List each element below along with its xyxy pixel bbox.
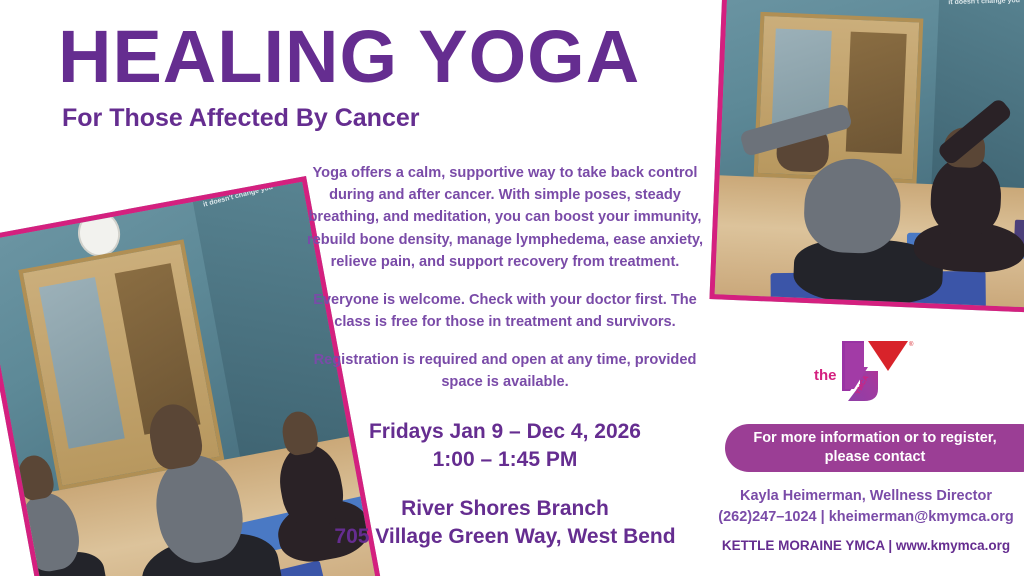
yoga-class-photo-top-right: If it doesn't challenge you, it doesn't … [709, 0, 1024, 313]
spacer [300, 473, 710, 495]
schedule-block: Fridays Jan 9 – Dec 4, 2026 1:00 – 1:45 … [300, 418, 710, 551]
logo-the-text: the [814, 367, 837, 384]
body-copy-block: Yoga offers a calm, supportive way to ta… [300, 162, 710, 394]
scene-door-glass-right [846, 32, 907, 154]
contact-pill-text: For more information or to register, ple… [741, 429, 1009, 467]
contact-details: Kayla Heimerman, Wellness Director (262)… [708, 486, 1024, 527]
headline-block: HEALING YOGA For Those Affected By Cance… [58, 22, 698, 133]
page-title: HEALING YOGA [58, 22, 698, 92]
contact-phone-email: (262)247–1024 | kheimerman@kmymca.org [708, 507, 1024, 528]
organization-footer: KETTLE MORAINE YMCA | www.kmymca.org [708, 538, 1024, 553]
schedule-dates: Fridays Jan 9 – Dec 4, 2026 [300, 418, 710, 446]
page-subtitle: For Those Affected By Cancer [62, 104, 698, 133]
contact-pill-banner: For more information or to register, ple… [725, 424, 1024, 472]
body-paragraph-3: Registration is required and open at any… [300, 349, 710, 393]
scene-door-glass-left [39, 277, 126, 449]
ymca-logo: the YMCA ® [812, 337, 917, 405]
schedule-time: 1:00 – 1:45 PM [300, 446, 710, 474]
contact-name-title: Kayla Heimerman, Wellness Director [708, 486, 1024, 507]
body-paragraph-2: Everyone is welcome. Check with your doc… [300, 289, 710, 333]
poster-canvas: If it doesn't challenge you, it doesn't … [0, 0, 1024, 576]
schedule-branch: River Shores Branch [300, 495, 710, 523]
body-paragraph-1: Yoga offers a calm, supportive way to ta… [300, 162, 710, 273]
registered-mark: ® [909, 341, 914, 348]
photo-inner-top-right: If it doesn't challenge you, it doesn't … [715, 0, 1024, 308]
gym-scene: If it doesn't challenge you, it doesn't … [715, 0, 1024, 308]
schedule-address: 705 Village Green Way, West Bend [300, 523, 710, 551]
